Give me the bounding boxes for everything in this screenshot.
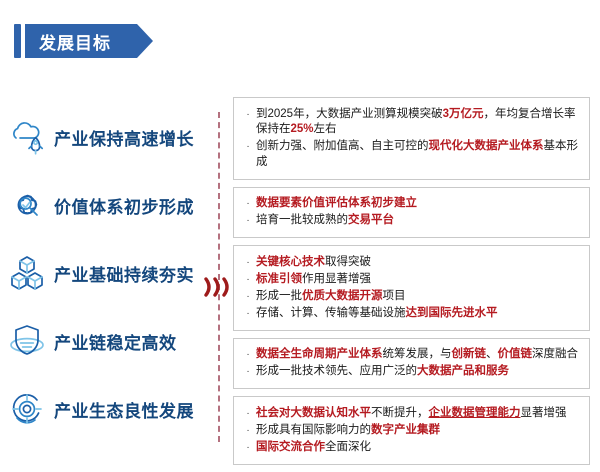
bullet-text: 国际交流合作全面深化 xyxy=(256,440,581,456)
bullet-text: 数据要素价值评估体系初步建立 xyxy=(256,196,581,212)
bullet-marker-icon: · xyxy=(240,306,256,322)
goal-item-1[interactable]: 产业保持高速增长 xyxy=(0,103,205,171)
bullet-text: 培育一批较成熟的交易平台 xyxy=(256,213,581,229)
goal-item-4[interactable]: 产业链稳定高效 xyxy=(0,307,205,375)
bullet-item: ·国际交流合作全面深化 xyxy=(240,440,581,456)
bullet-marker-icon: · xyxy=(240,289,256,305)
bullet-item: ·社会对大数据认知水平不断提升，企业数据管理能力显著增强 xyxy=(240,406,581,422)
bullet-item: ·形成一批优质大数据开源项目 xyxy=(240,289,581,305)
bullet-text: 存储、计算、传输等基础设施达到国际先进水平 xyxy=(256,306,581,322)
shield-orbit-icon xyxy=(0,321,54,361)
bullet-text: 数据全生命周期产业体系统筹发展，与创新链、价值链深度融合 xyxy=(256,347,581,363)
page-title: 发展目标 xyxy=(39,29,111,54)
detail-box-4: ·数据全生命周期产业体系统筹发展，与创新链、价值链深度融合·形成一批技术领先、应… xyxy=(233,338,590,390)
cloud-rocket-icon xyxy=(0,117,54,157)
detail-boxes: ·到2025年，大数据产业测算规模突破3万亿元，年均复合增长率保持在25%左右·… xyxy=(233,97,590,472)
goal-list: 产业保持高速增长 价值体系初步形成 产业基础持续夯实 产业链稳定高效 xyxy=(0,103,205,443)
detail-box-3: ·关键核心技术取得突破·标准引领作用显著增强·形成一批优质大数据开源项目·存储、… xyxy=(233,245,590,331)
bullet-marker-icon: · xyxy=(240,255,256,271)
bullet-marker-icon: · xyxy=(240,347,256,363)
bullet-item: ·培育一批较成熟的交易平台 xyxy=(240,213,581,229)
bullet-text: 关键核心技术取得突破 xyxy=(256,255,581,271)
bullet-item: ·创新力强、附加值高、自主可控的现代化大数据产业体系基本形成 xyxy=(240,139,581,170)
goal-item-5[interactable]: 产业生态良性发展 xyxy=(0,375,205,443)
bullet-marker-icon: · xyxy=(240,196,256,212)
bullet-text: 形成具有国际影响力的数字产业集群 xyxy=(256,423,581,439)
bullet-marker-icon: · xyxy=(240,364,256,380)
banner-flag: 发展目标 xyxy=(25,24,137,58)
ecosystem-target-icon xyxy=(0,389,54,429)
bullet-text: 形成一批技术领先、应用广泛的大数据产品和服务 xyxy=(256,364,581,380)
goal-item-label: 价值体系初步形成 xyxy=(54,193,194,218)
bullet-marker-icon: · xyxy=(240,213,256,229)
detail-box-5: ·社会对大数据认知水平不断提升，企业数据管理能力显著增强·形成具有国际影响力的数… xyxy=(233,396,590,465)
bullet-item: ·到2025年，大数据产业测算规模突破3万亿元，年均复合增长率保持在25%左右 xyxy=(240,107,581,138)
red-chevrons xyxy=(203,276,237,298)
bullet-item: ·形成具有国际影响力的数字产业集群 xyxy=(240,423,581,439)
bullet-text: 标准引领作用显著增强 xyxy=(256,272,581,288)
bullet-marker-icon: · xyxy=(240,440,256,456)
goal-item-2[interactable]: 价值体系初步形成 xyxy=(0,171,205,239)
goal-item-3[interactable]: 产业基础持续夯实 xyxy=(0,239,205,307)
detail-box-1: ·到2025年，大数据产业测算规模突破3万亿元，年均复合增长率保持在25%左右·… xyxy=(233,97,590,180)
bullet-text: 创新力强、附加值高、自主可控的现代化大数据产业体系基本形成 xyxy=(256,139,581,170)
bullet-text: 到2025年，大数据产业测算规模突破3万亿元，年均复合增长率保持在25%左右 xyxy=(256,107,581,138)
bullet-marker-icon: · xyxy=(240,423,256,439)
banner-accent-bar xyxy=(14,24,21,58)
goal-item-label: 产业生态良性发展 xyxy=(54,397,194,422)
header-banner: 发展目标 xyxy=(14,24,137,58)
bullet-item: ·数据全生命周期产业体系统筹发展，与创新链、价值链深度融合 xyxy=(240,347,581,363)
bullet-marker-icon: · xyxy=(240,139,256,155)
goal-item-label: 产业链稳定高效 xyxy=(54,329,177,354)
bullet-item: ·形成一批技术领先、应用广泛的大数据产品和服务 xyxy=(240,364,581,380)
bullet-text: 形成一批优质大数据开源项目 xyxy=(256,289,581,305)
goal-item-label: 产业基础持续夯实 xyxy=(54,261,194,286)
bullet-marker-icon: · xyxy=(240,272,256,288)
detail-box-2: ·数据要素价值评估体系初步建立·培育一批较成熟的交易平台 xyxy=(233,187,590,239)
bullet-item: ·数据要素价值评估体系初步建立 xyxy=(240,196,581,212)
bullet-item: ·关键核心技术取得突破 xyxy=(240,255,581,271)
bullet-marker-icon: · xyxy=(240,107,256,123)
gear-magnifier-icon xyxy=(0,185,54,225)
goal-item-label: 产业保持高速增长 xyxy=(54,125,194,150)
bullet-item: ·标准引领作用显著增强 xyxy=(240,272,581,288)
bullet-item: ·存储、计算、传输等基础设施达到国际先进水平 xyxy=(240,306,581,322)
bullet-marker-icon: · xyxy=(240,406,256,422)
cubes-icon xyxy=(0,253,54,293)
bullet-text: 社会对大数据认知水平不断提升，企业数据管理能力显著增强 xyxy=(256,406,581,422)
